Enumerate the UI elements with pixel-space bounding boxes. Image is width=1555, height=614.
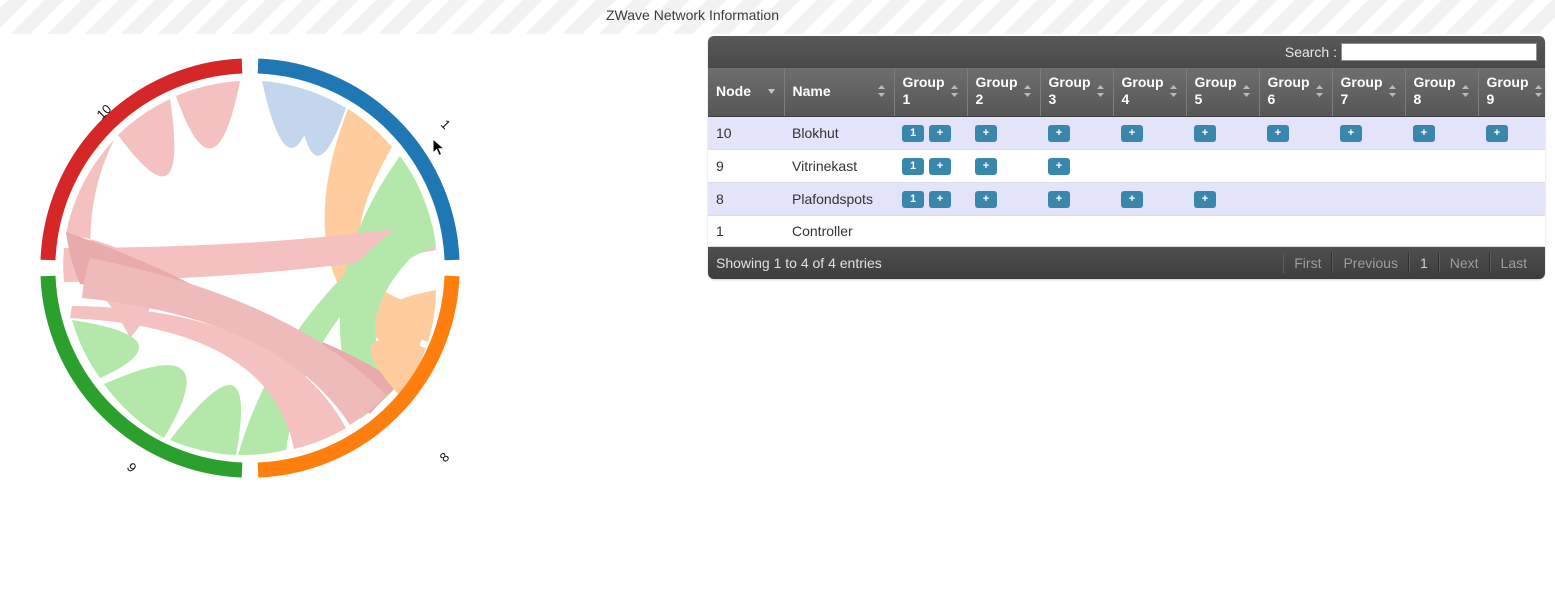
add-association-badge[interactable]: + <box>1413 125 1435 142</box>
cell-node: 9 <box>708 149 784 182</box>
cell-group-1: 1+ <box>894 117 967 150</box>
cell-group-1: 1+ <box>894 149 967 182</box>
column-header-node[interactable]: Node <box>708 68 784 117</box>
search-input[interactable] <box>1341 43 1537 61</box>
column-header-label: Group 6 <box>1268 74 1310 108</box>
cell-group-5 <box>1186 215 1259 246</box>
column-header-group-2[interactable]: Group 2 <box>967 68 1040 117</box>
cell-group-6: + <box>1259 117 1332 150</box>
column-header-group-4[interactable]: Group 4 <box>1113 68 1186 117</box>
sort-both-icon <box>1242 84 1251 98</box>
add-association-badge[interactable]: + <box>975 158 997 175</box>
add-association-badge[interactable]: + <box>1194 191 1216 208</box>
cell-group-5: + <box>1186 182 1259 215</box>
table-row[interactable]: 8Plafondspots1+++++ <box>708 182 1545 215</box>
sort-both-icon <box>1169 84 1178 98</box>
cell-node: 1 <box>708 215 784 246</box>
cell-group-4: + <box>1113 182 1186 215</box>
sort-desc-icon <box>767 84 776 98</box>
column-header-group-8[interactable]: Group 8 <box>1405 68 1478 117</box>
table-info: Showing 1 to 4 of 4 entries <box>716 255 882 271</box>
association-node-badge[interactable]: 1 <box>902 158 924 175</box>
chord-label-node-8: 8 <box>437 449 453 465</box>
cell-name: Plafondspots <box>784 182 894 215</box>
column-header-label: Group 5 <box>1195 74 1237 108</box>
cell-group-2: + <box>967 149 1040 182</box>
pagination-page-1[interactable]: 1 <box>1409 253 1439 273</box>
cell-node: 10 <box>708 117 784 150</box>
cell-group-9: + <box>1478 117 1545 150</box>
table-row[interactable]: 9Vitrinekast1+++ <box>708 149 1545 182</box>
add-association-badge[interactable]: + <box>1121 191 1143 208</box>
association-node-badge[interactable]: 1 <box>902 191 924 208</box>
cell-group-4 <box>1113 215 1186 246</box>
column-header-label: Name <box>793 83 831 100</box>
table-footer: Showing 1 to 4 of 4 entries First Previo… <box>708 247 1545 279</box>
zwave-chord-diagram: 1 8 9 10 <box>24 40 504 510</box>
column-header-label: Group 7 <box>1341 74 1383 108</box>
column-header-name[interactable]: Name <box>784 68 894 117</box>
chord-ribbons <box>63 81 436 455</box>
column-header-label: Group 2 <box>976 74 1018 108</box>
cell-name: Blokhut <box>784 117 894 150</box>
cell-group-7: + <box>1332 117 1405 150</box>
sort-both-icon <box>1315 84 1324 98</box>
cell-group-2: + <box>967 182 1040 215</box>
cell-group-7 <box>1332 215 1405 246</box>
column-header-label: Group 9 <box>1487 74 1529 108</box>
sort-both-icon <box>1388 84 1397 98</box>
table-row[interactable]: 10Blokhut1+++++++++ <box>708 117 1545 150</box>
cell-group-3: + <box>1040 117 1113 150</box>
cell-name: Controller <box>784 215 894 246</box>
column-header-label: Group 8 <box>1414 74 1456 108</box>
column-header-group-5[interactable]: Group 5 <box>1186 68 1259 117</box>
sort-both-icon <box>1461 84 1470 98</box>
add-association-badge[interactable]: + <box>1048 158 1070 175</box>
zwave-nodes-table: Node Name Grou <box>708 68 1545 247</box>
add-association-badge[interactable]: + <box>1048 191 1070 208</box>
cell-group-9 <box>1478 149 1545 182</box>
cell-group-9 <box>1478 215 1545 246</box>
column-header-label: Group 4 <box>1122 74 1164 108</box>
cell-name: Vitrinekast <box>784 149 894 182</box>
table-header: Node Name Grou <box>708 68 1545 117</box>
add-association-badge[interactable]: + <box>1121 125 1143 142</box>
sort-both-icon <box>1023 84 1032 98</box>
cell-group-8 <box>1405 182 1478 215</box>
cell-group-6 <box>1259 182 1332 215</box>
cell-group-5 <box>1186 149 1259 182</box>
cell-group-8 <box>1405 215 1478 246</box>
association-node-badge[interactable]: 1 <box>902 125 924 142</box>
cell-group-1 <box>894 215 967 246</box>
cell-group-7 <box>1332 149 1405 182</box>
column-header-label: Group 3 <box>1049 74 1091 108</box>
sort-both-icon <box>950 84 959 98</box>
mouse-cursor-icon <box>432 138 446 158</box>
cell-group-3 <box>1040 215 1113 246</box>
column-header-group-3[interactable]: Group 3 <box>1040 68 1113 117</box>
column-header-group-7[interactable]: Group 7 <box>1332 68 1405 117</box>
cell-node: 8 <box>708 182 784 215</box>
cell-group-8: + <box>1405 117 1478 150</box>
table-header-row: Node Name Grou <box>708 68 1545 117</box>
cell-group-2 <box>967 215 1040 246</box>
cell-group-3: + <box>1040 182 1113 215</box>
cell-group-3: + <box>1040 149 1113 182</box>
add-association-badge[interactable]: + <box>975 125 997 142</box>
add-association-badge[interactable]: + <box>1194 125 1216 142</box>
cell-group-4 <box>1113 149 1186 182</box>
zwave-network-table-panel: Search : Node <box>708 36 1545 279</box>
add-association-badge[interactable]: + <box>1048 125 1070 142</box>
add-association-badge[interactable]: + <box>929 125 951 142</box>
cell-group-6 <box>1259 149 1332 182</box>
add-association-badge[interactable]: + <box>929 191 951 208</box>
cell-group-7 <box>1332 182 1405 215</box>
cell-group-9 <box>1478 182 1545 215</box>
cell-group-4: + <box>1113 117 1186 150</box>
table-body: 10Blokhut1+++++++++9Vitrinekast1+++8Plaf… <box>708 117 1545 246</box>
sort-both-icon <box>877 84 886 98</box>
cell-group-5: + <box>1186 117 1259 150</box>
add-association-badge[interactable]: + <box>1486 125 1508 142</box>
pagination-first[interactable]: First <box>1283 253 1332 273</box>
table-row[interactable]: 1Controller <box>708 215 1545 246</box>
column-header-group-9[interactable]: Group 9 <box>1478 68 1545 117</box>
pagination: First Previous 1 Next Last <box>1283 253 1537 273</box>
add-association-badge[interactable]: + <box>1340 125 1362 142</box>
cell-group-2: + <box>967 117 1040 150</box>
column-header-label: Group 1 <box>903 74 945 108</box>
add-association-badge[interactable]: + <box>975 191 997 208</box>
sort-both-icon <box>1534 84 1543 98</box>
table-toolbar: Search : <box>708 36 1545 68</box>
add-association-badge[interactable]: + <box>929 158 951 175</box>
pagination-last[interactable]: Last <box>1490 253 1537 273</box>
pagination-next[interactable]: Next <box>1439 253 1490 273</box>
cell-group-1: 1+ <box>894 182 967 215</box>
column-header-label: Node <box>716 83 751 100</box>
page-title: ZWave Network Information <box>606 7 779 23</box>
cell-group-8 <box>1405 149 1478 182</box>
chord-label-node-1: 1 <box>438 117 454 133</box>
pagination-previous[interactable]: Previous <box>1332 253 1408 273</box>
cell-group-6 <box>1259 215 1332 246</box>
column-header-group-1[interactable]: Group 1 <box>894 68 967 117</box>
chord-label-node-9: 9 <box>124 460 140 476</box>
search-label: Search : <box>1285 44 1337 60</box>
add-association-badge[interactable]: + <box>1267 125 1289 142</box>
column-header-group-6[interactable]: Group 6 <box>1259 68 1332 117</box>
sort-both-icon <box>1096 84 1105 98</box>
